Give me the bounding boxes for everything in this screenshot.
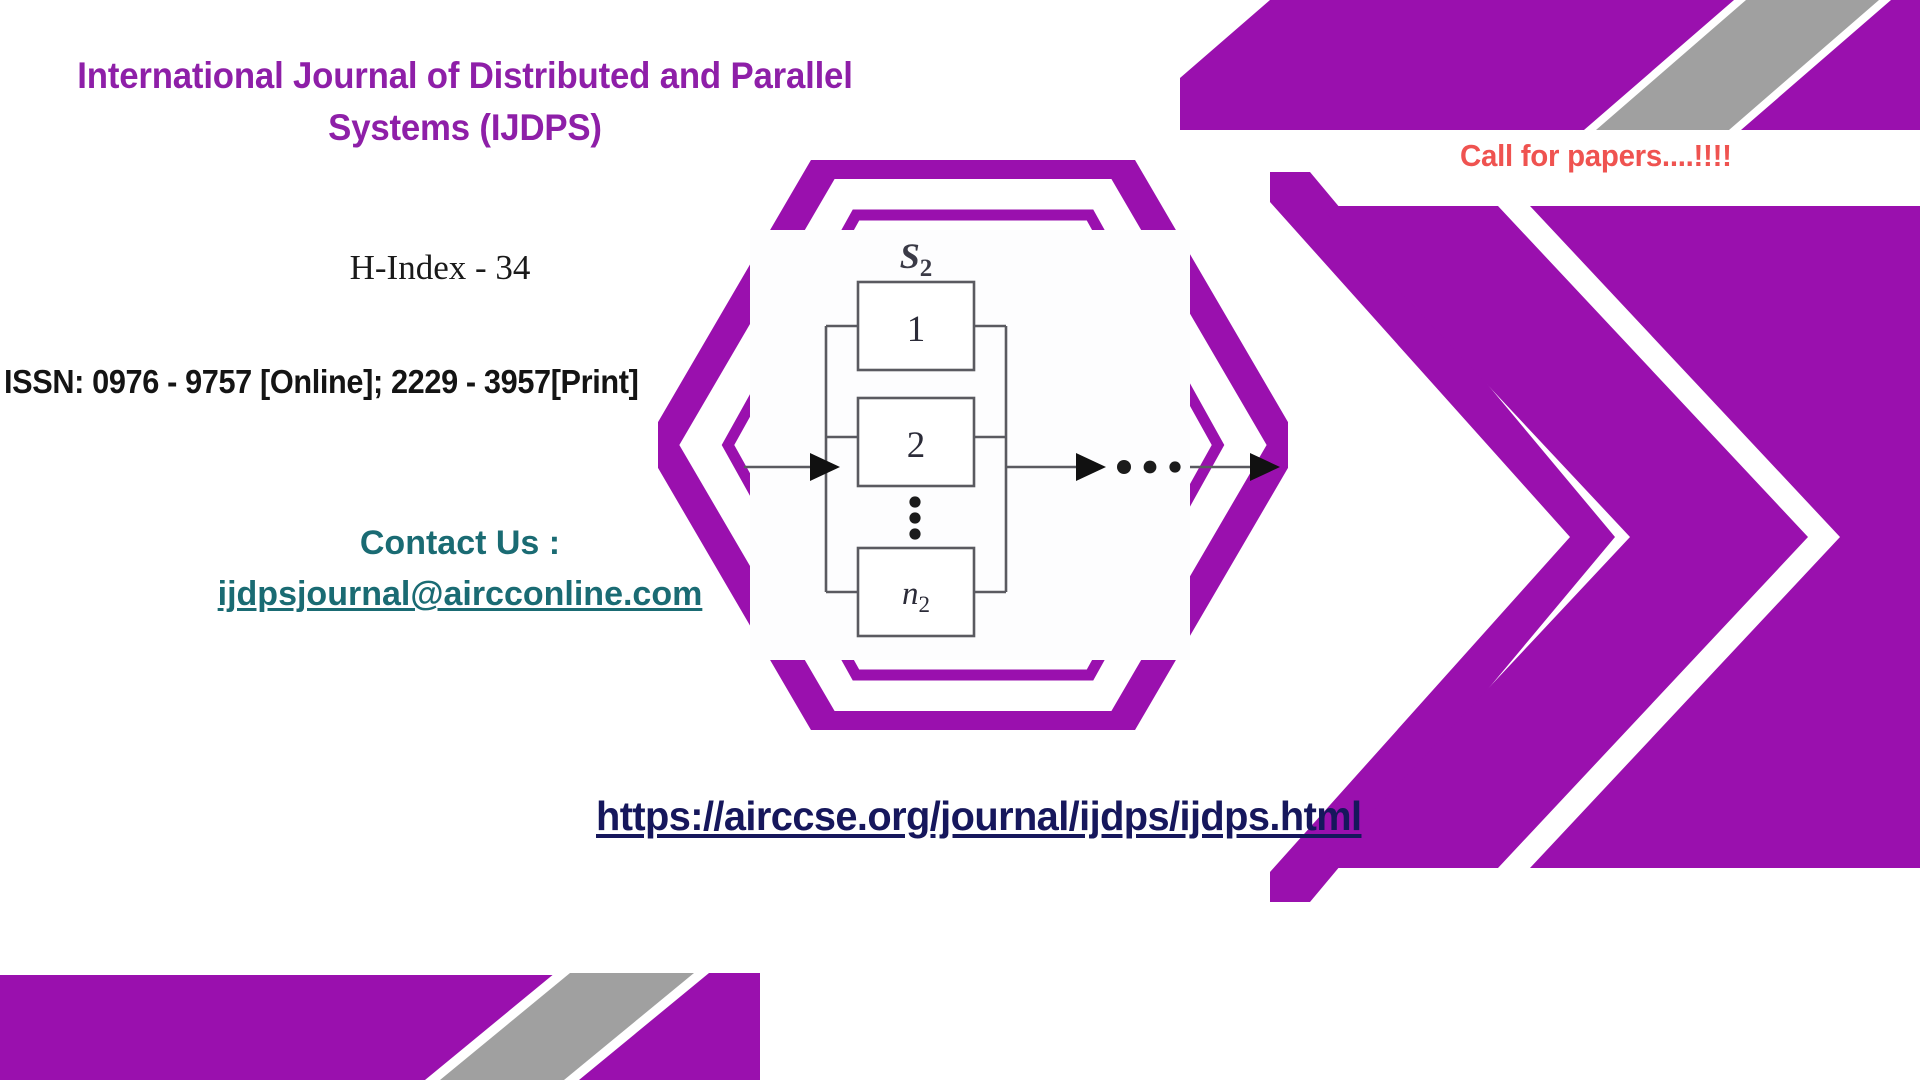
journal-website-link[interactable]: https://airccse.org/journal/ijdps/ijdps.… xyxy=(596,793,1361,840)
call-for-papers-label: Call for papers....!!!! xyxy=(1460,138,1732,174)
contact-email-link[interactable]: ijdpsjournal@aircconline.com xyxy=(218,569,703,620)
journal-title: International Journal of Distributed and… xyxy=(28,50,902,154)
diagram-block-label-2: 2 xyxy=(907,425,926,466)
journal-title-line-1: International Journal of Distributed and… xyxy=(28,50,902,102)
decorative-bands-bottom-left xyxy=(0,955,760,1080)
banner-canvas: International Journal of Distributed and… xyxy=(0,0,1920,1080)
hexagon-emblem: S2 1 2 n2 xyxy=(658,160,1288,730)
issn-label: ISSN: 0976 - 9757 [Online]; 2229 - 3957[… xyxy=(4,363,638,401)
diagram-vertical-ellipsis xyxy=(909,496,920,539)
decorative-chevrons-right xyxy=(1270,172,1920,902)
diagram-block-label-1: 1 xyxy=(907,309,926,350)
decorative-bands-top-right xyxy=(1180,0,1920,130)
journal-title-line-2: Systems (IJDPS) xyxy=(28,102,902,154)
